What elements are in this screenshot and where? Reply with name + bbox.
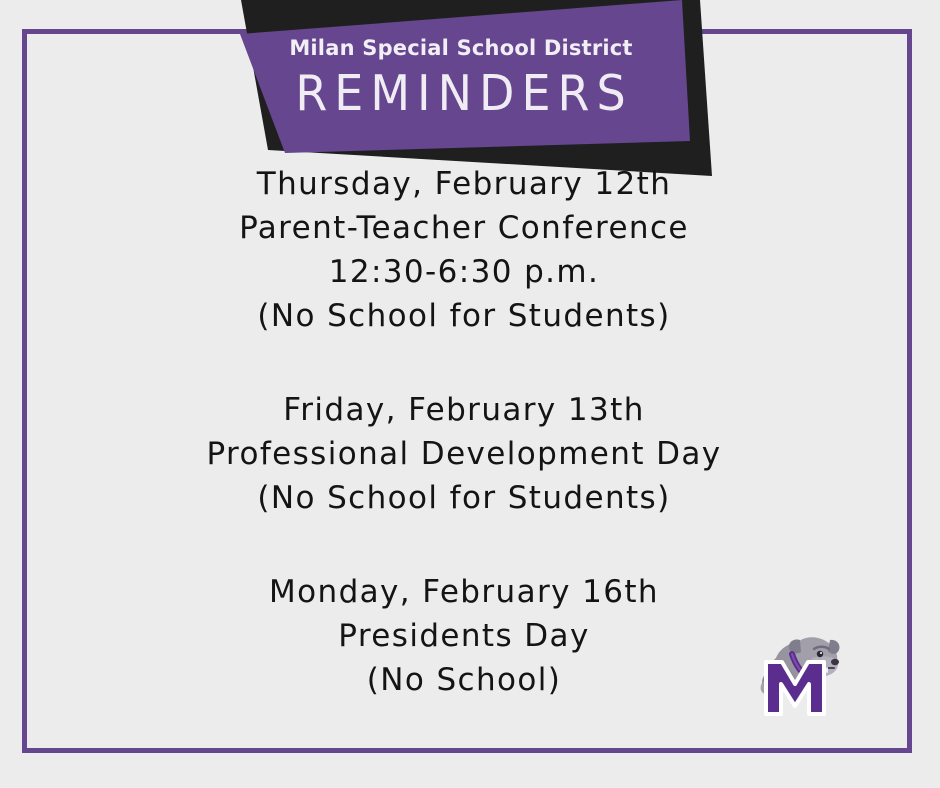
reminder-line: Professional Development Day xyxy=(24,432,904,476)
milan-bulldogs-logo xyxy=(748,618,848,718)
reminders-poster: Milan Special School District REMINDERS … xyxy=(0,0,940,788)
reminder-line: (No School for Students) xyxy=(24,294,904,338)
reminder-line: Thursday, February 12th xyxy=(24,162,904,206)
reminder-block: Friday, February 13th Professional Devel… xyxy=(30,388,910,520)
reminder-line: Monday, February 16th xyxy=(24,570,904,614)
reminder-line: Parent-Teacher Conference xyxy=(24,206,904,250)
reminder-line: Friday, February 13th xyxy=(24,388,904,432)
reminder-block: Thursday, February 12th Parent-Teacher C… xyxy=(30,162,910,338)
reminder-line: (No School for Students) xyxy=(24,476,904,520)
reminder-line: 12:30-6:30 p.m. xyxy=(24,250,904,294)
